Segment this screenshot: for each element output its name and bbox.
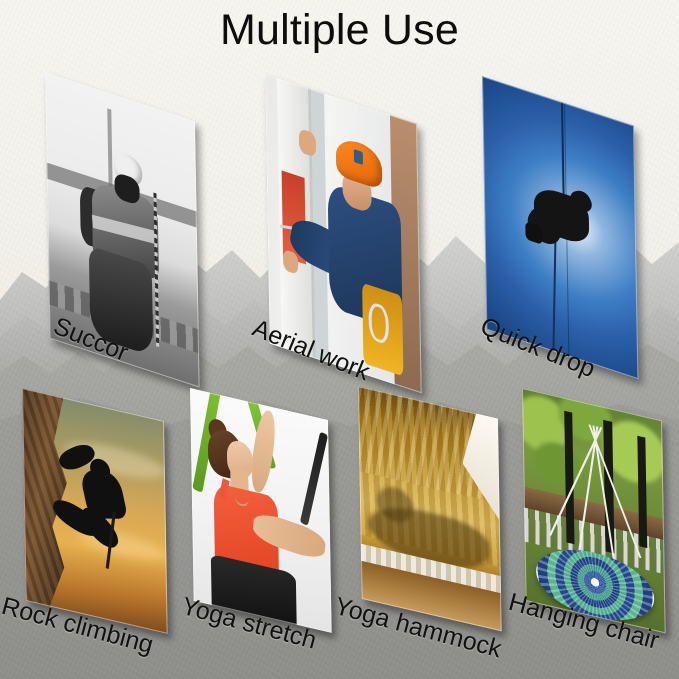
panel-rock-climbing-border (22, 388, 168, 634)
panel-yoga-stretch-border (190, 388, 332, 633)
panel-rock-climbing[interactable] (22, 388, 168, 634)
panel-yoga-hammock-border (358, 386, 502, 631)
panel-yoga-stretch[interactable] (190, 388, 332, 633)
infographic-root: Multiple Use (0, 0, 679, 679)
page-title: Multiple Use (0, 6, 679, 55)
panel-yoga-hammock[interactable] (358, 386, 502, 631)
